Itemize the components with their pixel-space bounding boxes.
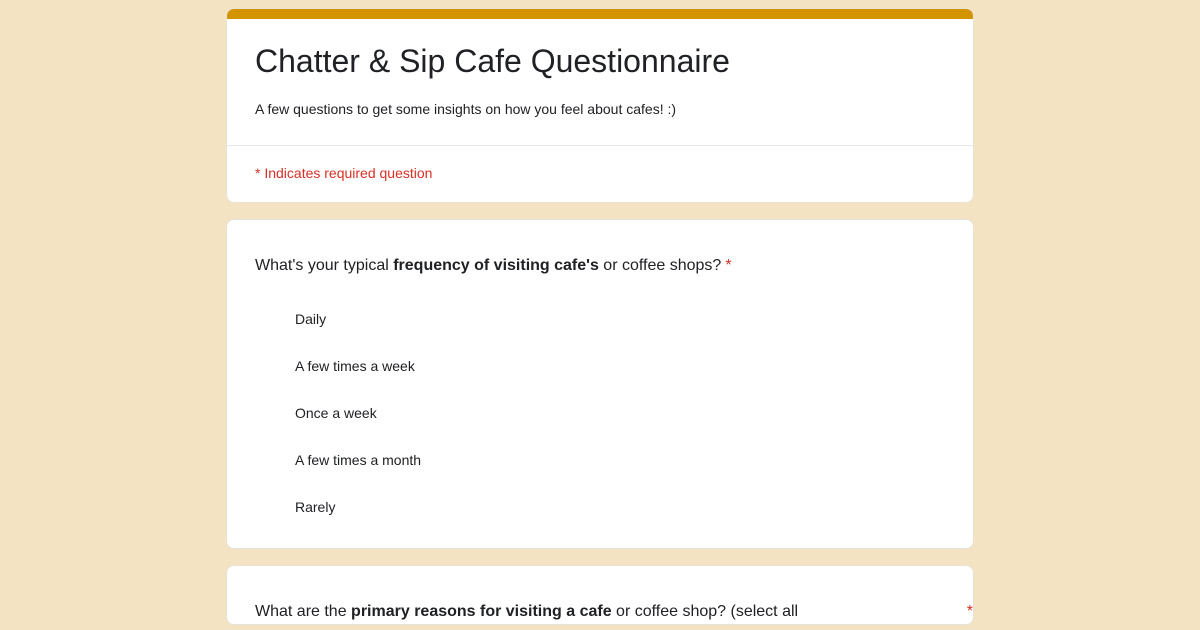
radio-option-label: Rarely	[295, 497, 335, 517]
question-primary-reasons-body: What are the primary reasons for visitin…	[227, 566, 973, 624]
question-card-primary-reasons[interactable]: What are the primary reasons for visitin…	[226, 565, 974, 625]
question-title-primary-reasons: What are the primary reasons for visitin…	[255, 600, 945, 624]
question-frequency-body: What's your typical frequency of visitin…	[227, 220, 973, 548]
question-title-part-1: frequency of visiting cafe's	[393, 257, 599, 274]
form-header-body: Chatter & Sip Cafe Questionnaire A few q…	[227, 19, 973, 145]
radio-option-label: Daily	[295, 309, 326, 329]
form-accent-bar	[227, 9, 973, 19]
question-title-part-0: What are the	[255, 603, 351, 620]
form-description: A few questions to get some insights on …	[255, 99, 945, 119]
radio-option-label: A few times a week	[295, 356, 415, 376]
radio-option-label: Once a week	[295, 403, 377, 423]
radio-option-daily[interactable]: Daily	[255, 308, 945, 330]
question-title-part-2: or coffee shops?	[599, 257, 721, 274]
required-asterisk-frequency: *	[725, 257, 731, 274]
question-card-frequency[interactable]: What's your typical frequency of visitin…	[226, 219, 974, 549]
radio-option-rarely[interactable]: Rarely	[255, 496, 945, 518]
form-title: Chatter & Sip Cafe Questionnaire	[255, 41, 945, 81]
required-question-note: * Indicates required question	[255, 164, 945, 182]
required-note-row: * Indicates required question	[227, 146, 973, 202]
question-title-part-1: primary reasons for visiting a cafe	[351, 603, 612, 620]
form-column: Chatter & Sip Cafe Questionnaire A few q…	[226, 0, 974, 625]
radio-option-label: A few times a month	[295, 450, 421, 470]
radio-option-once-a-week[interactable]: Once a week	[255, 402, 945, 424]
question-title-frequency: What's your typical frequency of visitin…	[255, 254, 945, 278]
form-page: Chatter & Sip Cafe Questionnaire A few q…	[0, 0, 1200, 630]
radio-option-a-few-times-a-month[interactable]: A few times a month	[255, 449, 945, 471]
radio-group-frequency[interactable]: Daily A few times a week Once a week A f…	[255, 308, 945, 518]
question-title-part-0: What's your typical	[255, 257, 393, 274]
required-asterisk-primary-reasons: *	[967, 600, 973, 624]
radio-option-a-few-times-a-week[interactable]: A few times a week	[255, 355, 945, 377]
form-header-card: Chatter & Sip Cafe Questionnaire A few q…	[226, 8, 974, 203]
question-title-part-2: or coffee shop? (select all	[612, 603, 798, 620]
